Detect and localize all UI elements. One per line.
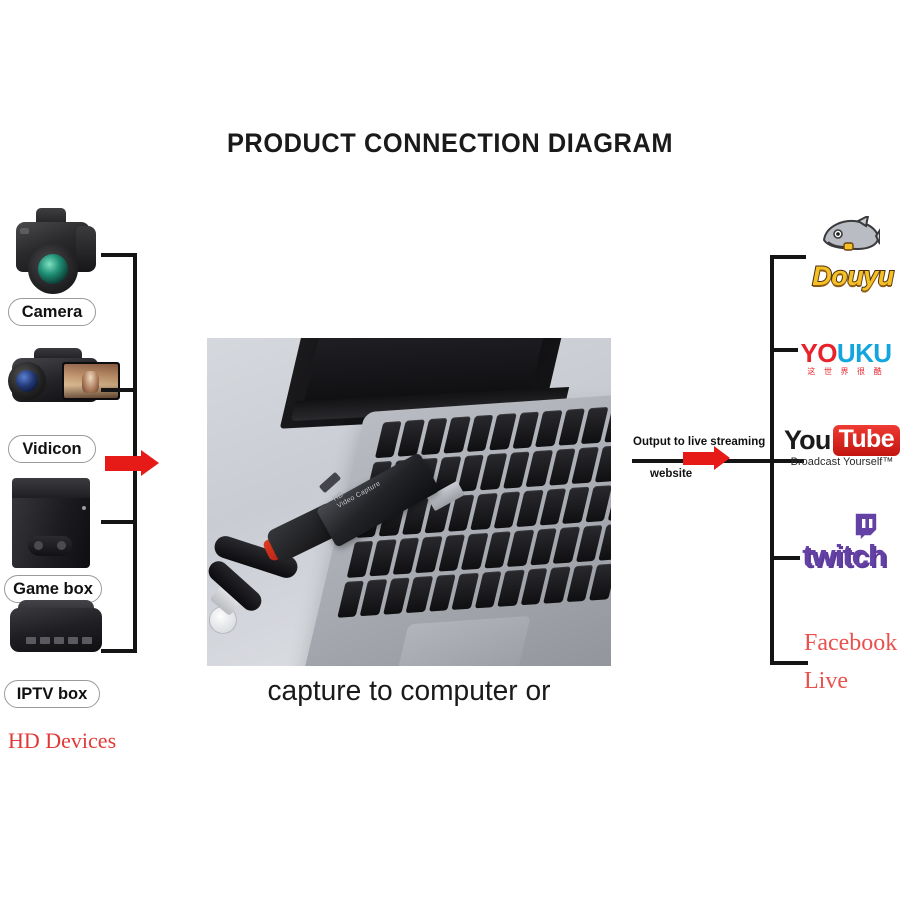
hd-devices-group-label: HD Devices [8,728,116,754]
youtube-tagline: Broadcast Yourself™ [786,456,898,468]
youku-wordmark: YOUKU [792,340,900,366]
output-label-line1: Output to live streaming [633,436,765,448]
youtube-tube-badge: Tube [833,425,900,456]
device-label-camera: Camera [8,298,96,326]
youtube-you-text: You [784,425,831,456]
product-photo: HD Video Capture [207,338,611,666]
device-label-iptv-box: IPTV box [4,680,100,708]
diagram-canvas: PRODUCT CONNECTION DIAGRAM Camera Vidico… [0,0,900,900]
douyu-shark-icon [818,216,880,256]
facebook-live-line2: Live [804,668,848,695]
output-label-line2: website [650,468,692,480]
twitch-wordmark: twitch [790,540,898,572]
douyu-wordmark: Douyu [806,262,900,290]
facebook-live-line1: Facebook [804,630,897,657]
device-label-game-box: Game box [4,575,102,603]
photo-caption: capture to computer or [213,675,605,708]
page-title: PRODUCT CONNECTION DIAGRAM [27,128,873,159]
device-label-vidicon: Vidicon [8,435,96,463]
youtube-wordmark: You Tube [786,425,898,456]
youku-subtitle: 这 世 界 很 酷 [792,366,900,377]
